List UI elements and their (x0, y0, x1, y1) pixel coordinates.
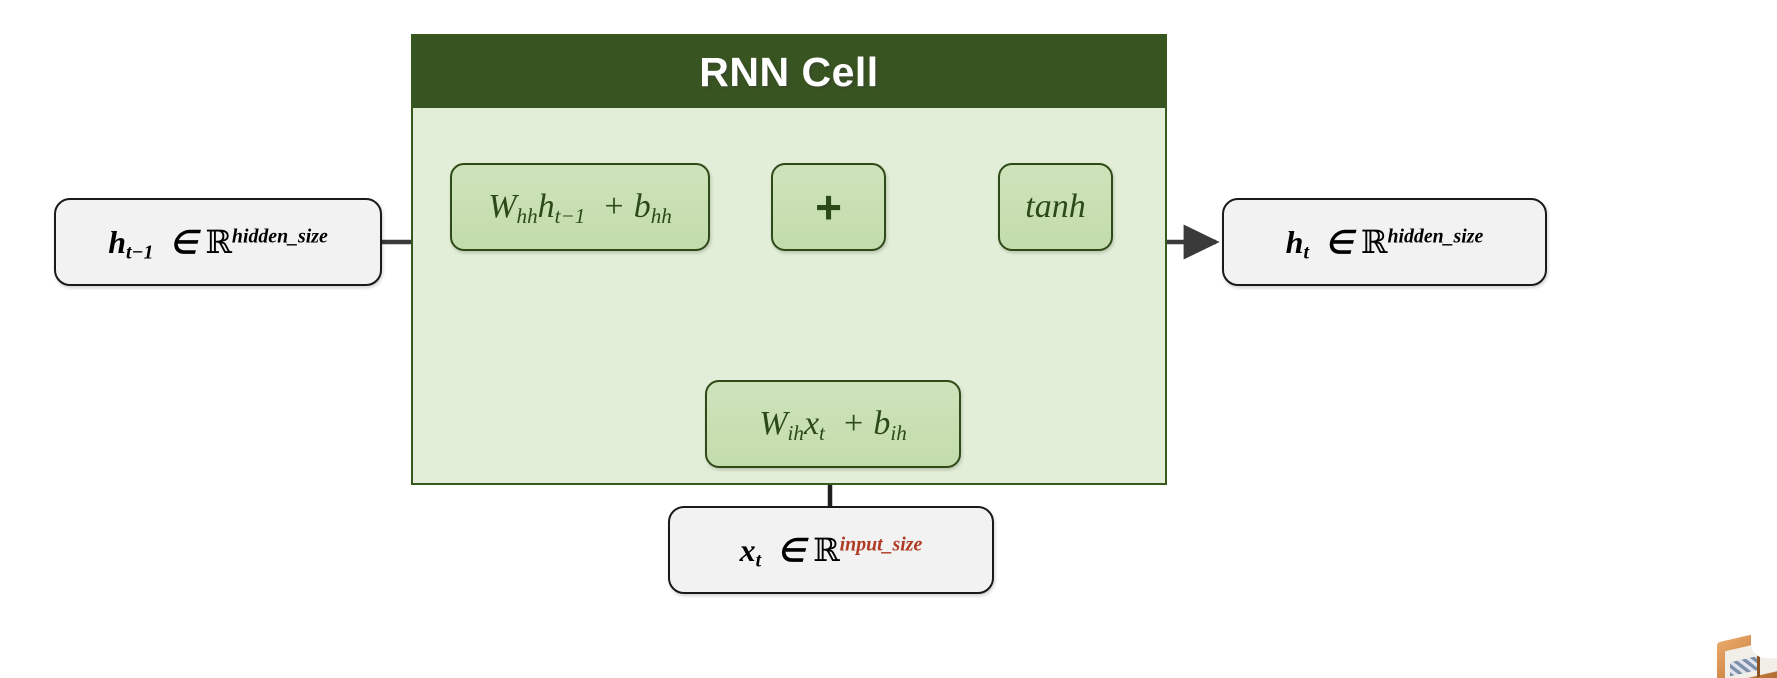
hidden-transform-label: Whhht−1 + bhh (488, 190, 672, 224)
input-x-label: xt ∈ ℝinput_size (740, 534, 923, 566)
diagram-canvas: ht−1 ∈ ℝhidden_size RNN Cell Whhht−1 + b… (0, 0, 1777, 678)
rnn-cell-title: RNN Cell (699, 49, 878, 96)
input-hidden-state-box[interactable]: ht−1 ∈ ℝhidden_size (54, 198, 382, 286)
adder-box[interactable]: + (771, 163, 886, 251)
rnn-cell-header: RNN Cell (413, 36, 1165, 108)
input-hidden-state-label: ht−1 ∈ ℝhidden_size (108, 226, 328, 258)
adder-label: + (815, 184, 842, 230)
input-x-box[interactable]: xt ∈ ℝinput_size (668, 506, 994, 594)
input-transform-box[interactable]: Wihxt + bih (705, 380, 961, 468)
output-hidden-state-label: ht ∈ ℝhidden_size (1286, 226, 1484, 258)
webcam-corner-mask (1751, 616, 1777, 658)
hidden-transform-box[interactable]: Whhht−1 + bhh (450, 163, 710, 251)
output-hidden-state-box[interactable]: ht ∈ ℝhidden_size (1222, 198, 1547, 286)
activation-box[interactable]: tanh (998, 163, 1113, 251)
rnn-cell-container: RNN Cell Whhht−1 + bhh + tanh Wihxt (411, 34, 1167, 485)
rnn-cell-body: Whhht−1 + bhh + tanh Wihxt + bih (413, 108, 1165, 483)
webcam-thumbnail[interactable] (1665, 616, 1777, 678)
activation-label: tanh (1025, 190, 1085, 224)
input-transform-label: Wihxt + bih (759, 407, 907, 441)
